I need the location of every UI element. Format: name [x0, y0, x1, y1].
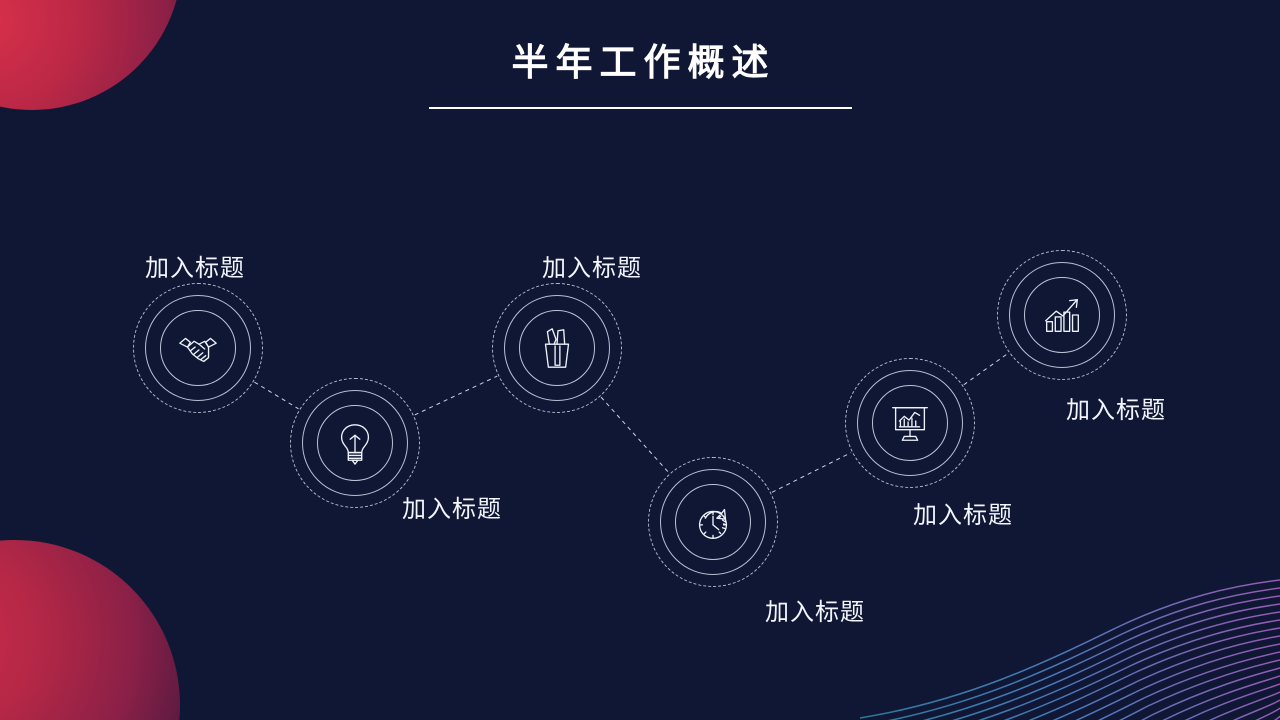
connector-line-4 [772, 453, 851, 493]
node-label-3: 加入标题 [542, 248, 642, 283]
diagram-node-5[interactable] [845, 358, 975, 488]
node-label-1: 加入标题 [145, 248, 245, 283]
diagram-node-2[interactable] [290, 378, 420, 508]
node-label-2: 加入标题 [402, 489, 502, 524]
connector-line-2 [415, 376, 498, 415]
process-diagram: 加入标题 加入标题 加入标题 [0, 0, 1280, 720]
presentation-chart-icon [887, 400, 933, 446]
diagram-node-1[interactable] [133, 283, 263, 413]
node-label-5: 加入标题 [913, 495, 1013, 530]
pen-holder-icon [534, 325, 580, 371]
growth-chart-icon [1039, 292, 1085, 338]
node-label-4: 加入标题 [765, 592, 865, 627]
diagram-node-3[interactable] [492, 283, 622, 413]
handshake-icon [175, 325, 221, 371]
lightbulb-icon [332, 420, 378, 466]
clock-refresh-icon [690, 499, 736, 545]
diagram-node-4[interactable] [648, 457, 778, 587]
diagram-node-6[interactable] [997, 250, 1127, 380]
node-label-6: 加入标题 [1066, 390, 1166, 425]
